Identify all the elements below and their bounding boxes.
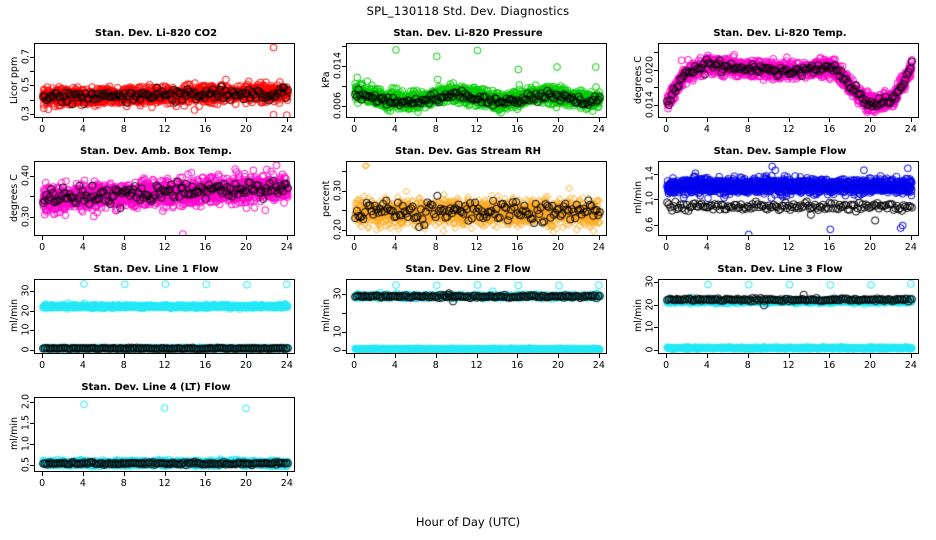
scatter-canvas-amb-box-temp	[35, 162, 295, 236]
xtick-li820-co2-4	[205, 118, 206, 122]
xtick-li820-co2-3	[165, 118, 166, 122]
xtick-line3-flow-4	[829, 354, 830, 358]
xtick-line4-lt-flow-5	[246, 472, 247, 476]
xtick-li820-temp-5	[870, 118, 871, 122]
panel-line2-flow: Stan. Dev. Line 2 Flowml/min010300481216…	[312, 264, 624, 382]
panel-gas-stream-rh: Stan. Dev. Gas Stream RHpercent0.200.300…	[312, 146, 624, 264]
xtick-li820-co2-0	[42, 118, 43, 122]
xtick-label-amb-box-temp-5: 20	[240, 242, 252, 253]
xtick-label-li820-co2-3: 12	[158, 124, 170, 135]
ytick-gas-stream-rh-1	[342, 210, 346, 211]
panel-title-li820-pressure: Stan. Dev. Li-820 Pressure	[312, 28, 624, 39]
xtick-label-li820-pressure-1: 4	[392, 124, 398, 135]
ylabel-li820-pressure: kPa	[321, 72, 332, 89]
xtick-label-li820-temp-4: 16	[823, 124, 835, 135]
xtick-li820-pressure-5	[558, 118, 559, 122]
xtick-line3-flow-0	[666, 354, 667, 358]
xtick-label-line4-lt-flow-4: 16	[199, 478, 211, 489]
xtick-line4-lt-flow-6	[287, 472, 288, 476]
xtick-li820-pressure-0	[354, 118, 355, 122]
plot-area-line4-lt-flow	[34, 397, 295, 472]
xtick-gas-stream-rh-2	[436, 236, 437, 240]
panel-title-sample-flow: Stan. Dev. Sample Flow	[624, 146, 936, 157]
ytick-li820-pressure-3	[342, 46, 346, 47]
xtick-label-li820-pressure-3: 12	[470, 124, 482, 135]
xtick-li820-temp-4	[829, 118, 830, 122]
xtick-label-amb-box-temp-0: 0	[39, 242, 45, 253]
xtick-li820-temp-6	[911, 118, 912, 122]
panel-title-li820-temp: Stan. Dev. Li-820 Temp.	[624, 28, 936, 39]
scatter-canvas-gas-stream-rh	[347, 162, 607, 236]
xtick-line2-flow-5	[558, 354, 559, 358]
xtick-sample-flow-5	[870, 236, 871, 240]
ytick-li820-temp-3	[654, 52, 658, 53]
xtick-li820-pressure-1	[395, 118, 396, 122]
panel-li820-temp: Stan. Dev. Li-820 Temp.degrees C0.0140.0…	[624, 28, 936, 146]
xtick-label-sample-flow-3: 12	[782, 242, 794, 253]
ylabel-line1-flow: ml/min	[9, 299, 20, 332]
xtick-sample-flow-1	[707, 236, 708, 240]
xtick-label-sample-flow-4: 16	[823, 242, 835, 253]
xtick-line3-flow-2	[748, 354, 749, 358]
xtick-line3-flow-3	[789, 354, 790, 358]
xtick-label-gas-stream-rh-3: 12	[470, 242, 482, 253]
xtick-line1-flow-6	[287, 354, 288, 358]
xtick-amb-box-temp-2	[124, 236, 125, 240]
xtick-label-gas-stream-rh-0: 0	[351, 242, 357, 253]
xtick-label-line3-flow-1: 4	[704, 360, 710, 371]
xtick-label-sample-flow-1: 4	[704, 242, 710, 253]
ytick-li820-pressure-1	[342, 86, 346, 87]
panel-title-line4-lt-flow: Stan. Dev. Line 4 (LT) Flow	[0, 382, 312, 393]
ylabel-line4-lt-flow: ml/min	[9, 417, 20, 450]
ylabel-line3-flow: ml/min	[633, 299, 644, 332]
xtick-label-line1-flow-6: 24	[281, 360, 293, 371]
xtick-amb-box-temp-3	[165, 236, 166, 240]
ylabel-sample-flow: ml/min	[633, 181, 644, 214]
scatter-canvas-li820-temp	[659, 44, 919, 118]
xtick-label-line1-flow-3: 12	[158, 360, 170, 371]
scatter-canvas-line1-flow	[35, 280, 295, 354]
xtick-label-line3-flow-2: 8	[745, 360, 751, 371]
xtick-li820-temp-3	[789, 118, 790, 122]
xtick-gas-stream-rh-0	[354, 236, 355, 240]
xtick-label-sample-flow-2: 8	[745, 242, 751, 253]
xtick-li820-co2-6	[287, 118, 288, 122]
xtick-line2-flow-2	[436, 354, 437, 358]
xtick-label-line1-flow-2: 8	[121, 360, 127, 371]
xtick-label-li820-temp-2: 8	[745, 124, 751, 135]
xtick-line2-flow-3	[477, 354, 478, 358]
xtick-li820-temp-1	[707, 118, 708, 122]
xtick-label-line4-lt-flow-5: 20	[240, 478, 252, 489]
xtick-li820-co2-2	[124, 118, 125, 122]
xtick-label-gas-stream-rh-4: 16	[511, 242, 523, 253]
xtick-line2-flow-1	[395, 354, 396, 358]
ytick-amb-box-temp-1	[30, 196, 34, 197]
xtick-label-li820-pressure-4: 16	[511, 124, 523, 135]
xtick-label-li820-temp-5: 20	[864, 124, 876, 135]
ylabel-li820-temp: degrees C	[633, 56, 644, 104]
xtick-amb-box-temp-1	[83, 236, 84, 240]
xtick-label-amb-box-temp-3: 12	[158, 242, 170, 253]
scatter-canvas-line4-lt-flow	[35, 398, 295, 472]
xtick-sample-flow-4	[829, 236, 830, 240]
xtick-label-li820-temp-0: 0	[663, 124, 669, 135]
xtick-label-li820-temp-6: 24	[905, 124, 917, 135]
xtick-label-line2-flow-4: 16	[511, 360, 523, 371]
plot-area-li820-co2	[34, 43, 295, 118]
xtick-li820-pressure-6	[599, 118, 600, 122]
panel-title-li820-co2: Stan. Dev. Li-820 CO2	[0, 28, 312, 39]
xtick-sample-flow-3	[789, 236, 790, 240]
scatter-canvas-sample-flow	[659, 162, 919, 236]
xtick-line4-lt-flow-4	[205, 472, 206, 476]
xtick-label-line3-flow-4: 16	[823, 360, 835, 371]
xtick-line4-lt-flow-2	[124, 472, 125, 476]
panel-sample-flow: Stan. Dev. Sample Flowml/min0.61.01.4048…	[624, 146, 936, 264]
xtick-li820-co2-1	[83, 118, 84, 122]
xtick-amb-box-temp-5	[246, 236, 247, 240]
ylabel-li820-co2: Licor ppm	[9, 57, 20, 104]
xtick-li820-pressure-2	[436, 118, 437, 122]
panel-title-gas-stream-rh: Stan. Dev. Gas Stream RH	[312, 146, 624, 157]
xtick-line1-flow-5	[246, 354, 247, 358]
xtick-line1-flow-4	[205, 354, 206, 358]
scatter-canvas-li820-pressure	[347, 44, 607, 118]
panel-li820-pressure: Stan. Dev. Li-820 PressurekPa0.0060.0140…	[312, 28, 624, 146]
ylabel-amb-box-temp: degrees C	[9, 174, 20, 222]
scatter-canvas-line3-flow	[659, 280, 919, 354]
xtick-label-sample-flow-5: 20	[864, 242, 876, 253]
xtick-label-gas-stream-rh-1: 4	[392, 242, 398, 253]
plot-area-line3-flow	[658, 279, 919, 354]
panel-title-line2-flow: Stan. Dev. Line 2 Flow	[312, 264, 624, 275]
ylabel-gas-stream-rh: percent	[321, 180, 332, 216]
scatter-canvas-li820-co2	[35, 44, 295, 118]
xtick-gas-stream-rh-4	[517, 236, 518, 240]
xtick-li820-temp-0	[666, 118, 667, 122]
xtick-label-line1-flow-4: 16	[199, 360, 211, 371]
plot-area-li820-temp	[658, 43, 919, 118]
xtick-label-li820-pressure-0: 0	[351, 124, 357, 135]
xtick-label-li820-co2-1: 4	[80, 124, 86, 135]
xtick-line2-flow-4	[517, 354, 518, 358]
plot-area-sample-flow	[658, 161, 919, 236]
xtick-line3-flow-6	[911, 354, 912, 358]
xtick-label-li820-co2-4: 16	[199, 124, 211, 135]
xtick-label-line4-lt-flow-2: 8	[121, 478, 127, 489]
ytick-li820-temp-1	[654, 87, 658, 88]
xtick-sample-flow-2	[748, 236, 749, 240]
diagnostics-figure: SPL_130118 Std. Dev. Diagnostics Hour of…	[0, 0, 936, 540]
xtick-label-li820-pressure-2: 8	[433, 124, 439, 135]
panel-title-line1-flow: Stan. Dev. Line 1 Flow	[0, 264, 312, 275]
xtick-amb-box-temp-4	[205, 236, 206, 240]
plot-area-li820-pressure	[346, 43, 607, 118]
xtick-label-li820-temp-1: 4	[704, 124, 710, 135]
figure-title: SPL_130118 Std. Dev. Diagnostics	[0, 4, 936, 18]
xtick-label-line4-lt-flow-3: 12	[158, 478, 170, 489]
xtick-line3-flow-1	[707, 354, 708, 358]
xtick-gas-stream-rh-3	[477, 236, 478, 240]
xtick-label-amb-box-temp-2: 8	[121, 242, 127, 253]
xtick-label-amb-box-temp-4: 16	[199, 242, 211, 253]
xtick-label-line4-lt-flow-0: 0	[39, 478, 45, 489]
xtick-label-li820-temp-3: 12	[782, 124, 794, 135]
xtick-label-gas-stream-rh-5: 20	[552, 242, 564, 253]
xtick-label-line1-flow-0: 0	[39, 360, 45, 371]
xtick-amb-box-temp-0	[42, 236, 43, 240]
xtick-label-li820-pressure-5: 20	[552, 124, 564, 135]
xtick-label-amb-box-temp-6: 24	[281, 242, 293, 253]
ytick-line2-flow-2	[342, 313, 346, 314]
xtick-label-gas-stream-rh-2: 8	[433, 242, 439, 253]
xtick-label-li820-pressure-6: 24	[593, 124, 605, 135]
xtick-label-line3-flow-6: 24	[905, 360, 917, 371]
scatter-canvas-line2-flow	[347, 280, 607, 354]
plot-area-line2-flow	[346, 279, 607, 354]
plot-area-line1-flow	[34, 279, 295, 354]
xtick-label-line1-flow-1: 4	[80, 360, 86, 371]
panel-line4-lt-flow: Stan. Dev. Line 4 (LT) Flowml/min0.51.01…	[0, 382, 312, 500]
ytick-gas-stream-rh-3	[342, 171, 346, 172]
xtick-label-line2-flow-3: 12	[470, 360, 482, 371]
panel-title-amb-box-temp: Stan. Dev. Amb. Box Temp.	[0, 146, 312, 157]
xtick-line1-flow-2	[124, 354, 125, 358]
xtick-label-line3-flow-0: 0	[663, 360, 669, 371]
xtick-gas-stream-rh-1	[395, 236, 396, 240]
panel-line1-flow: Stan. Dev. Line 1 Flowml/min010203004812…	[0, 264, 312, 382]
panel-li820-co2: Stan. Dev. Li-820 CO2Licor ppm0.30.50.70…	[0, 28, 312, 146]
panel-title-line3-flow: Stan. Dev. Line 3 Flow	[624, 264, 936, 275]
ytick-li820-co2-3	[30, 71, 34, 72]
xtick-gas-stream-rh-5	[558, 236, 559, 240]
xtick-sample-flow-6	[911, 236, 912, 240]
xtick-label-line4-lt-flow-1: 4	[80, 478, 86, 489]
xtick-li820-temp-2	[748, 118, 749, 122]
xtick-line2-flow-6	[599, 354, 600, 358]
ylabel-line2-flow: ml/min	[321, 299, 332, 332]
xtick-label-li820-co2-5: 20	[240, 124, 252, 135]
xtick-line1-flow-1	[83, 354, 84, 358]
xtick-line2-flow-0	[354, 354, 355, 358]
xtick-label-line3-flow-5: 20	[864, 360, 876, 371]
xtick-label-line2-flow-6: 24	[593, 360, 605, 371]
xtick-label-line3-flow-3: 12	[782, 360, 794, 371]
xtick-line4-lt-flow-0	[42, 472, 43, 476]
ytick-li820-co2-1	[30, 100, 34, 101]
xtick-label-line1-flow-5: 20	[240, 360, 252, 371]
xtick-label-line2-flow-5: 20	[552, 360, 564, 371]
xtick-label-line4-lt-flow-6: 24	[281, 478, 293, 489]
xtick-label-line2-flow-2: 8	[433, 360, 439, 371]
xtick-sample-flow-0	[666, 236, 667, 240]
xtick-label-sample-flow-6: 24	[905, 242, 917, 253]
xtick-label-amb-box-temp-1: 4	[80, 242, 86, 253]
xtick-line4-lt-flow-1	[83, 472, 84, 476]
xtick-amb-box-temp-6	[287, 236, 288, 240]
plot-area-gas-stream-rh	[346, 161, 607, 236]
figure-xaxis-label: Hour of Day (UTC)	[0, 515, 936, 529]
panel-line3-flow: Stan. Dev. Line 3 Flowml/min010203004812…	[624, 264, 936, 382]
xtick-li820-co2-5	[246, 118, 247, 122]
xtick-line3-flow-5	[870, 354, 871, 358]
xtick-li820-pressure-3	[477, 118, 478, 122]
xtick-label-sample-flow-0: 0	[663, 242, 669, 253]
xtick-line1-flow-0	[42, 354, 43, 358]
xtick-label-gas-stream-rh-6: 24	[593, 242, 605, 253]
xtick-gas-stream-rh-6	[599, 236, 600, 240]
xtick-label-line2-flow-1: 4	[392, 360, 398, 371]
panel-amb-box-temp: Stan. Dev. Amb. Box Temp.degrees C0.300.…	[0, 146, 312, 264]
xtick-label-line2-flow-0: 0	[351, 360, 357, 371]
plot-area-amb-box-temp	[34, 161, 295, 236]
xtick-line1-flow-3	[165, 354, 166, 358]
xtick-label-li820-co2-2: 8	[121, 124, 127, 135]
xtick-label-li820-co2-6: 24	[281, 124, 293, 135]
xtick-li820-pressure-4	[517, 118, 518, 122]
xtick-label-li820-co2-0: 0	[39, 124, 45, 135]
xtick-line4-lt-flow-3	[165, 472, 166, 476]
